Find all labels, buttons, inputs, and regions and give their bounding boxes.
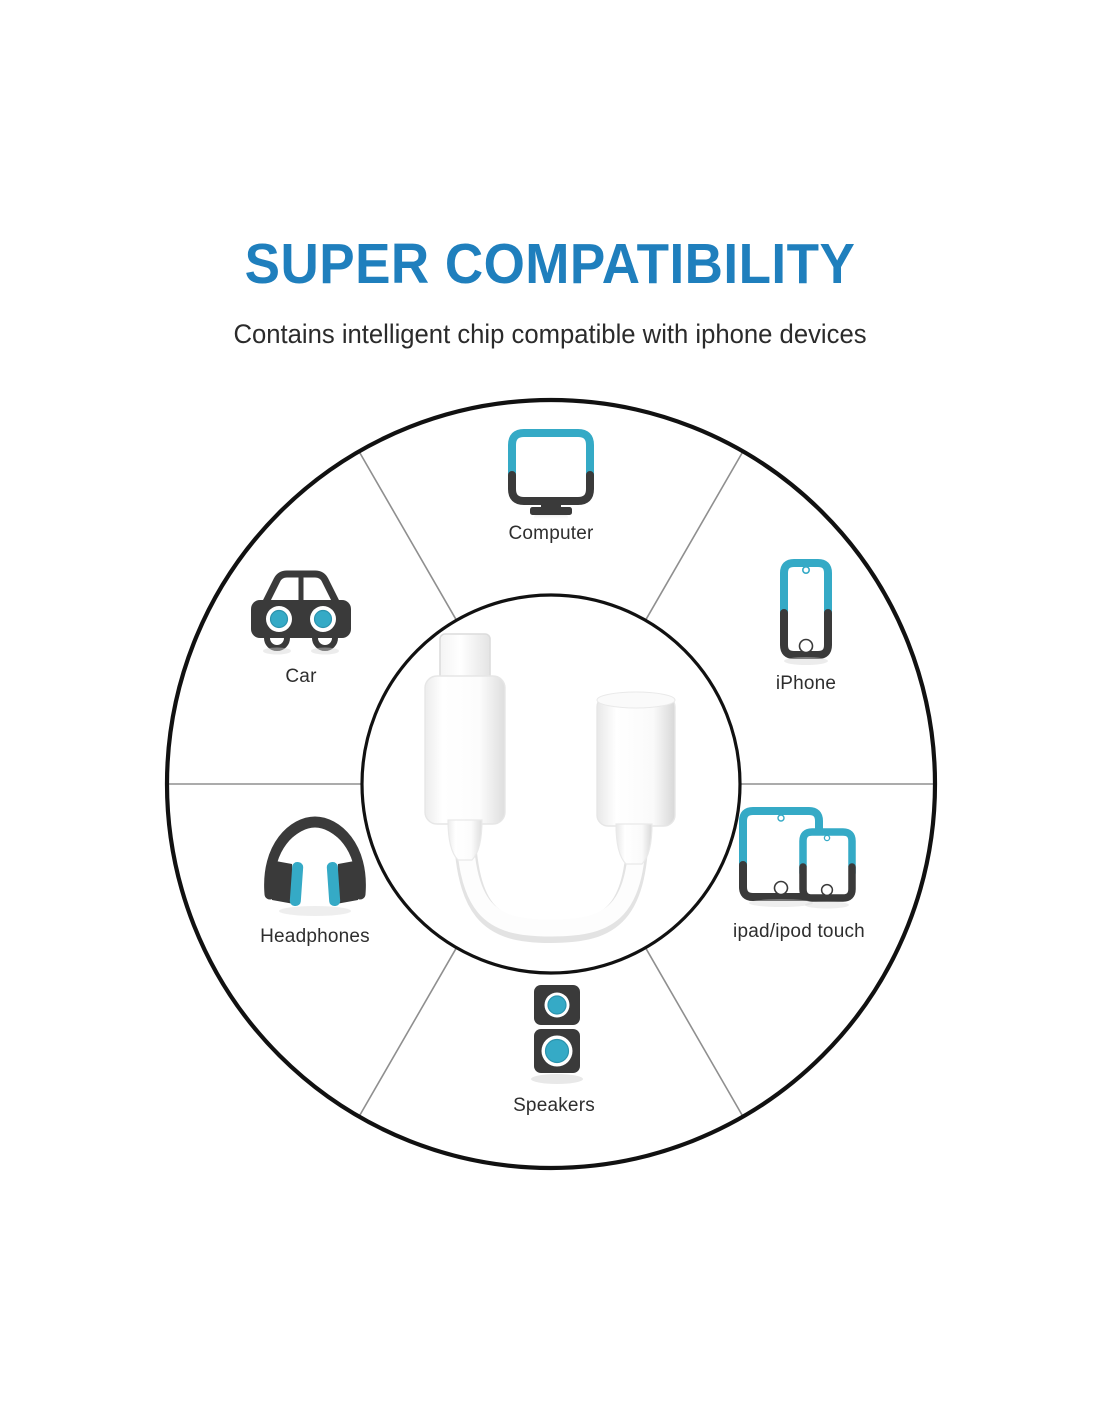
adapter-cable-illustration: [386, 614, 716, 954]
segment-car[interactable]: Car: [186, 566, 416, 688]
segment-label-computer: Computer: [436, 523, 666, 545]
speakers-icon: [439, 995, 669, 1091]
segment-iphone[interactable]: iPhone: [691, 573, 921, 695]
page-title: SUPER COMPATIBILITY: [39, 236, 1062, 293]
computer-monitor-icon: [436, 423, 666, 519]
segment-label-ipad-ipod-touch: ipad/ipod touch: [684, 921, 914, 943]
segment-label-car: Car: [186, 666, 416, 688]
heading-block: SUPER COMPATIBILITY Contains intelligent…: [0, 236, 1100, 350]
segment-ipad-ipod-touch[interactable]: ipad/ipod touch: [684, 821, 914, 943]
ipad-ipod-touch-icon: [684, 821, 914, 917]
segment-headphones[interactable]: Headphones: [200, 826, 430, 948]
segment-computer[interactable]: Computer: [436, 423, 666, 545]
headphones-icon: [200, 826, 430, 922]
segment-label-headphones: Headphones: [200, 926, 430, 948]
segment-label-iphone: iPhone: [691, 673, 921, 695]
segment-speakers[interactable]: Speakers: [439, 995, 669, 1117]
iphone-icon: [691, 573, 921, 669]
compatibility-wheel: Computer iPhone: [150, 383, 952, 1185]
page-subtitle: Contains intelligent chip compatible wit…: [28, 319, 1073, 350]
car-icon: [186, 566, 416, 662]
infographic-page: SUPER COMPATIBILITY Contains intelligent…: [0, 0, 1100, 1422]
segment-label-speakers: Speakers: [439, 1095, 669, 1117]
